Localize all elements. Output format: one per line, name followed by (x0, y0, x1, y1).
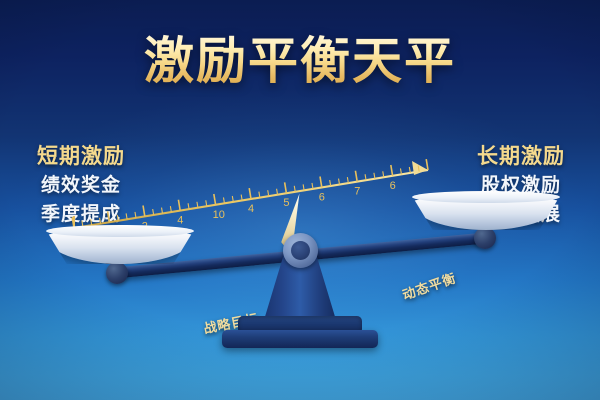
ruler-axis (74, 161, 428, 228)
ruler-ticks (72, 159, 428, 228)
balance-scale-illustration: 12241045676 战略目标 动态平衡 (0, 0, 600, 400)
ruler-tick-number: 4 (248, 203, 254, 215)
right-pan-rim (412, 191, 560, 203)
poster-canvas: 激励平衡天平 短期激励 绩效奖金 季度提成 长期激励 股权激励 职业发展 (0, 0, 600, 400)
ruler-tick-number: 6 (319, 191, 325, 203)
ruler-tick-number: 5 (283, 197, 289, 209)
ruler-tick-number: 6 (390, 180, 396, 192)
left-pan-joint (106, 262, 128, 284)
left-pan-rim (46, 225, 194, 237)
ruler-tick-number: 4 (177, 215, 183, 227)
right-pan-joint (474, 227, 496, 249)
ruler-tick-number: 10 (213, 209, 225, 221)
ruler-right-label: 动态平衡 (399, 267, 458, 303)
scale-base-lower (222, 330, 378, 348)
scale-pivot (283, 233, 318, 268)
ruler-tick-number: 7 (354, 186, 360, 198)
